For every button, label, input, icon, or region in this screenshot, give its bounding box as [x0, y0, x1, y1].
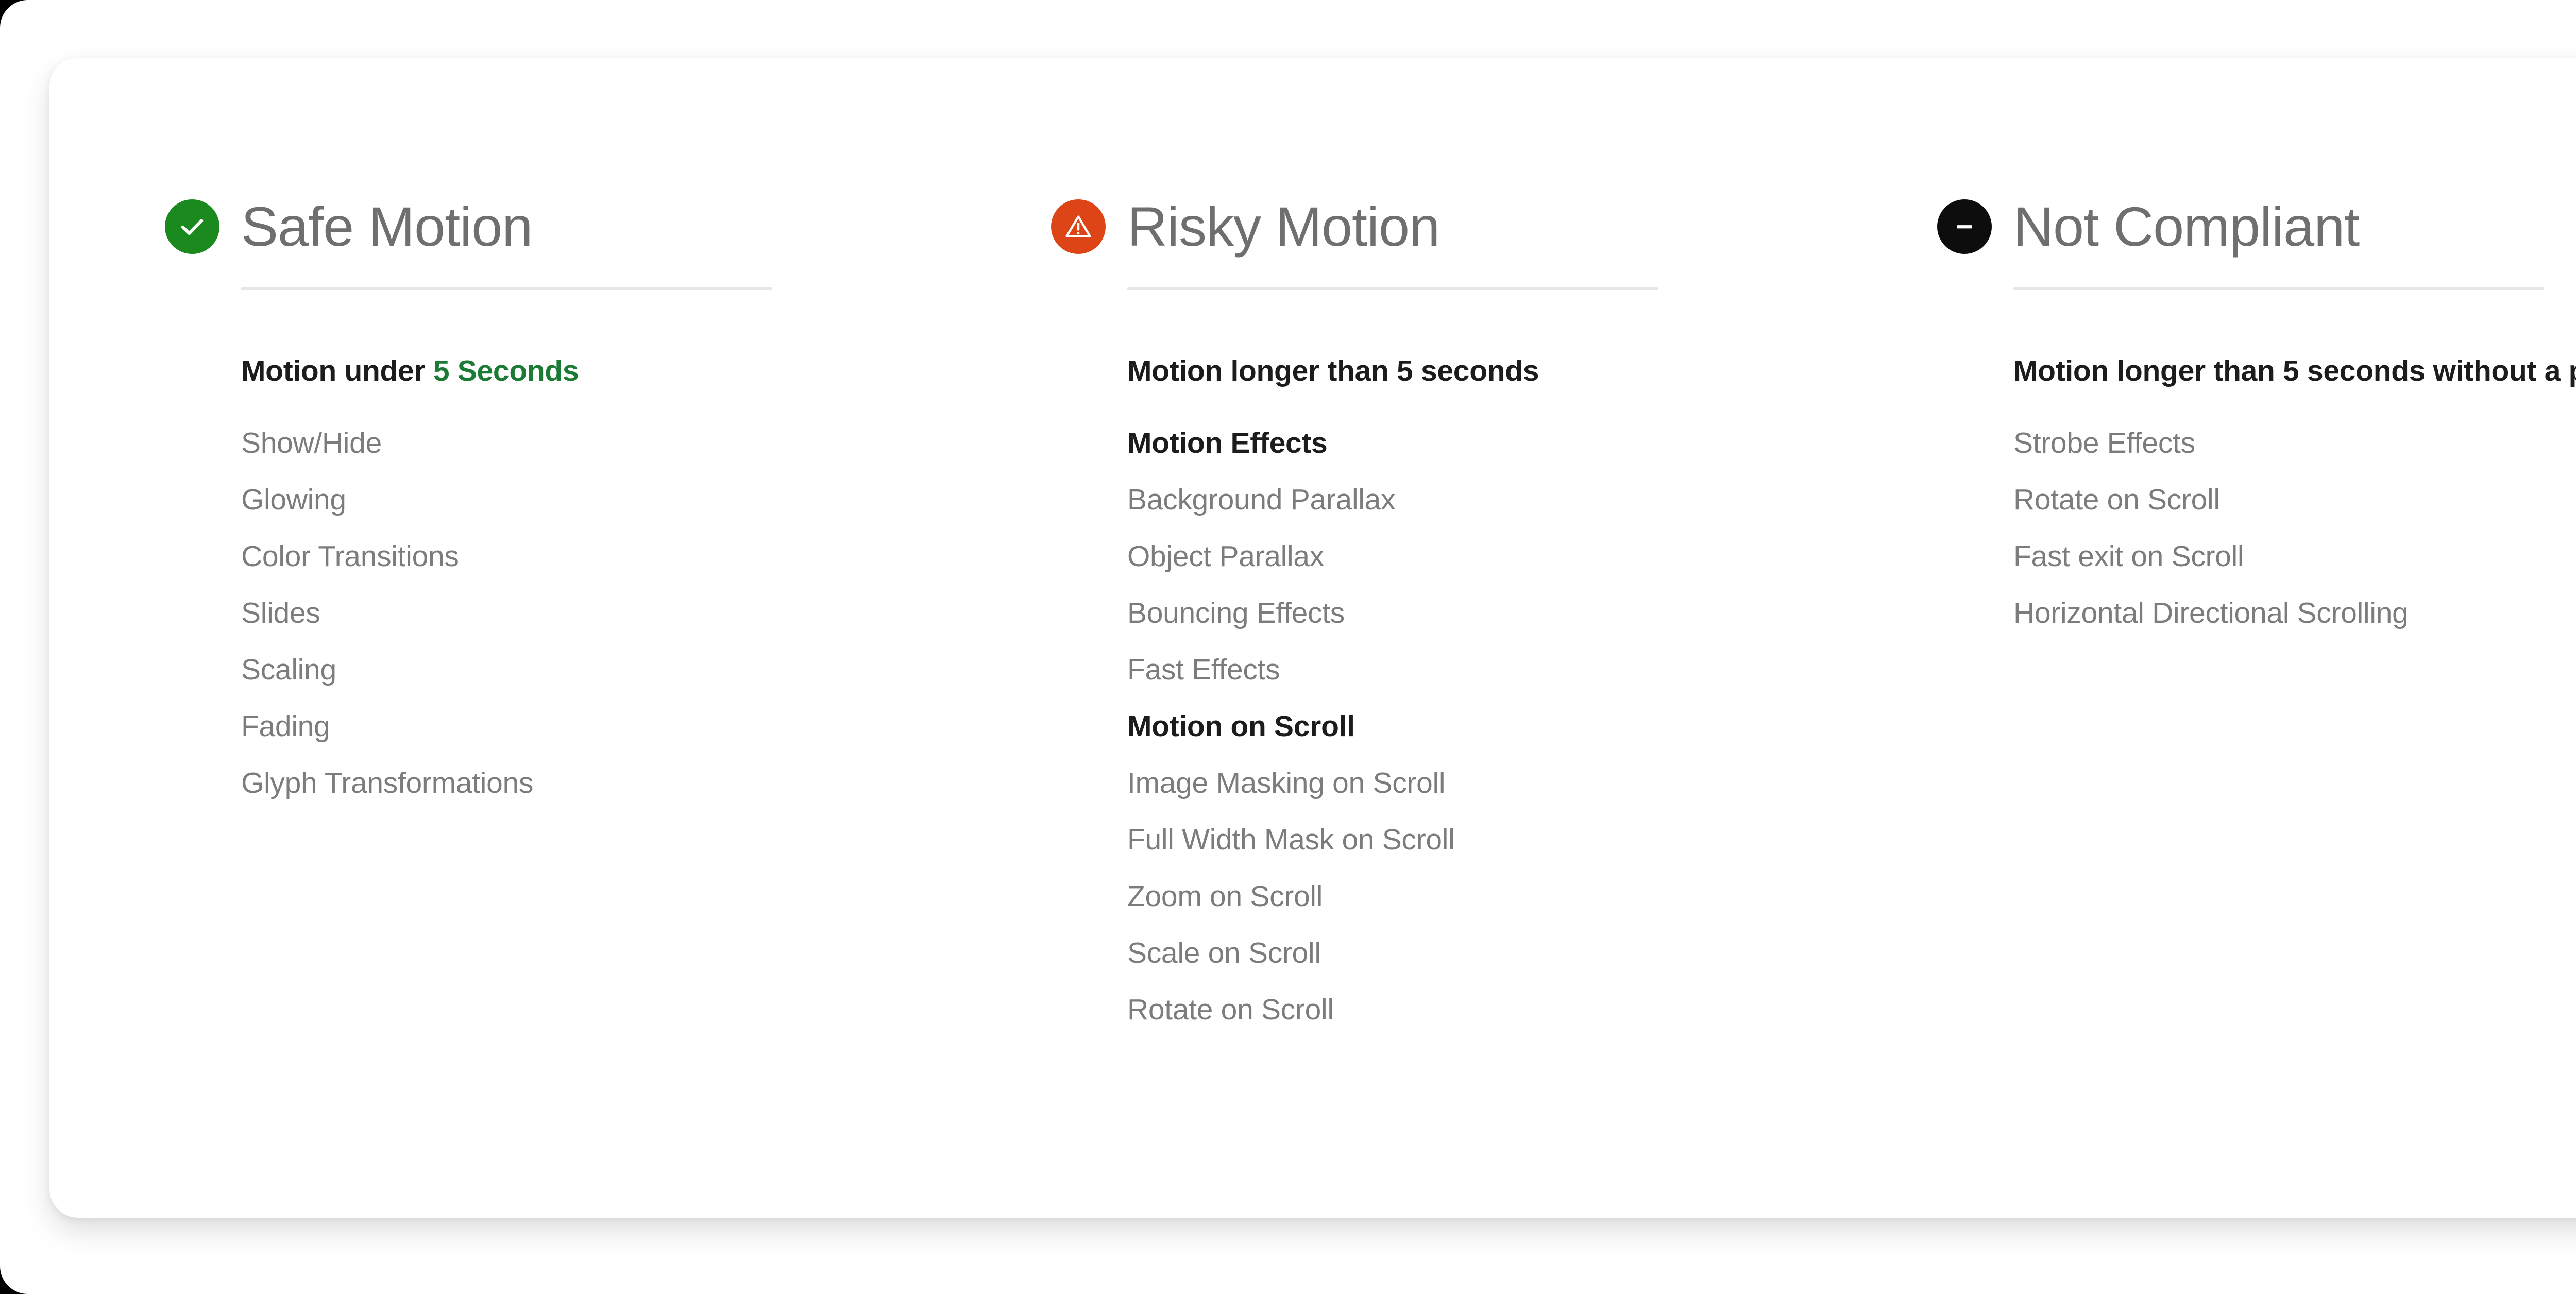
page-root: Safe Motion Motion under 5 Seconds Show/… — [0, 0, 2576, 1294]
column-body-safe-motion: Motion under 5 Seconds Show/Hide Glowing… — [241, 353, 1051, 798]
list-item: Fading — [241, 712, 1051, 741]
column-title-safe-motion: Safe Motion — [241, 197, 532, 256]
column-divider-safe-motion — [241, 287, 772, 290]
list-item: Background Parallax — [1127, 485, 1937, 515]
item-list-safe-motion: Show/Hide Glowing Color Transitions Slid… — [241, 429, 1051, 798]
minus-circle-icon — [1937, 199, 1992, 254]
list-item: Zoom on Scroll — [1127, 882, 1937, 911]
column-divider-risky-motion — [1127, 287, 1658, 290]
list-item: Motion Effects — [1127, 429, 1937, 458]
columns-container: Safe Motion Motion under 5 Seconds Show/… — [49, 58, 2576, 1218]
list-item: Horizontal Directional Scrolling — [2013, 599, 2576, 628]
list-item: Motion on Scroll — [1127, 712, 1937, 741]
lede-prefix: Motion longer than 5 seconds — [1127, 354, 1539, 387]
list-item: Rotate on Scroll — [1127, 995, 1937, 1025]
list-item: Rotate on Scroll — [2013, 485, 2576, 515]
lede-highlight: 5 Seconds — [433, 354, 579, 387]
list-item: Bouncing Effects — [1127, 599, 1937, 628]
column-not-compliant: Not Compliant Motion longer than 5 secon… — [1937, 196, 2576, 1218]
lede-risky-motion: Motion longer than 5 seconds — [1127, 353, 1937, 389]
list-item: Glyph Transformations — [241, 769, 1051, 798]
list-item: Object Parallax — [1127, 542, 1937, 571]
column-header-not-compliant: Not Compliant — [1937, 196, 2576, 258]
column-risky-motion: Risky Motion Motion longer than 5 second… — [1051, 196, 1937, 1218]
list-item: Color Transitions — [241, 542, 1051, 571]
list-item: Fast exit on Scroll — [2013, 542, 2576, 571]
list-item: Full Width Mask on Scroll — [1127, 825, 1937, 855]
column-body-risky-motion: Motion longer than 5 seconds Motion Effe… — [1127, 353, 1937, 1025]
list-item: Slides — [241, 599, 1051, 628]
column-header-risky-motion: Risky Motion — [1051, 196, 1937, 258]
check-circle-icon — [165, 199, 219, 254]
list-item: Fast Effects — [1127, 655, 1937, 685]
column-title-risky-motion: Risky Motion — [1127, 197, 1439, 256]
lede-safe-motion: Motion under 5 Seconds — [241, 353, 1051, 389]
column-header-safe-motion: Safe Motion — [165, 196, 1051, 258]
list-item: Show/Hide — [241, 429, 1051, 458]
column-safe-motion: Safe Motion Motion under 5 Seconds Show/… — [165, 196, 1051, 1218]
warning-triangle-circle-icon — [1051, 199, 1106, 254]
list-item: Image Masking on Scroll — [1127, 769, 1937, 798]
list-item: Scaling — [241, 655, 1051, 685]
list-item: Glowing — [241, 485, 1051, 515]
item-list-not-compliant: Strobe Effects Rotate on Scroll Fast exi… — [2013, 429, 2576, 628]
list-item: Strobe Effects — [2013, 429, 2576, 458]
item-list-risky-motion: Motion Effects Background Parallax Objec… — [1127, 429, 1937, 1025]
motion-guidelines-card: Safe Motion Motion under 5 Seconds Show/… — [49, 58, 2576, 1218]
list-item: Scale on Scroll — [1127, 939, 1937, 968]
lede-not-compliant: Motion longer than 5 seconds without a p… — [2013, 353, 2576, 389]
column-divider-not-compliant — [2013, 287, 2544, 290]
column-body-not-compliant: Motion longer than 5 seconds without a p… — [2013, 353, 2576, 628]
column-title-not-compliant: Not Compliant — [2013, 197, 2359, 256]
lede-prefix: Motion longer than 5 seconds without a p… — [2013, 354, 2576, 387]
lede-prefix: Motion under — [241, 354, 433, 387]
